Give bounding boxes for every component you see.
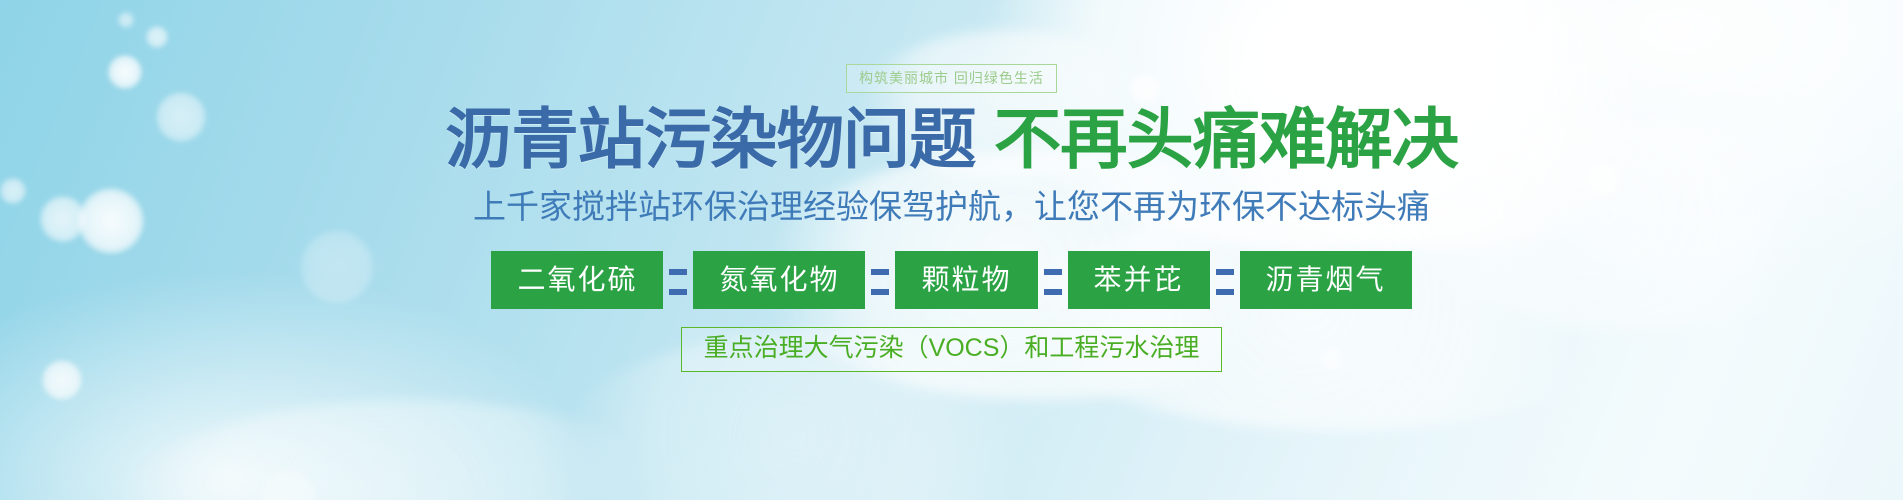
pollutant-tag-row: 二氧化硫 氮氧化物 颗粒物 苯并芘 沥青烟气	[491, 251, 1411, 309]
tag-item[interactable]: 氮氧化物	[693, 251, 865, 309]
tag-separator-icon	[875, 251, 885, 309]
hero-banner: 构筑美丽城市 回归绿色生活 沥青站污染物问题不再头痛难解决 上千家搅拌站环保治理…	[0, 0, 1903, 500]
tag-item[interactable]: 二氧化硫	[491, 251, 663, 309]
headline-part-accent: 不再头痛难解决	[994, 101, 1458, 178]
footnote-banner: 重点治理大气污染（VOCS）和工程污水治理	[681, 327, 1223, 372]
tag-separator-icon	[1048, 251, 1058, 309]
tag-item[interactable]: 沥青烟气	[1240, 251, 1412, 309]
page-title: 沥青站污染物问题不再头痛难解决	[445, 107, 1458, 173]
tag-separator-icon	[1220, 251, 1230, 309]
eyebrow-tagline: 构筑美丽城市 回归绿色生活	[846, 64, 1057, 93]
page-subtitle: 上千家搅拌站环保治理经验保驾护航，让您不再为环保不达标头痛	[473, 189, 1430, 225]
tag-item[interactable]: 颗粒物	[895, 251, 1037, 309]
tag-separator-icon	[673, 251, 683, 309]
tag-item[interactable]: 苯并芘	[1068, 251, 1210, 309]
banner-content: 构筑美丽城市 回归绿色生活 沥青站污染物问题不再头痛难解决 上千家搅拌站环保治理…	[0, 0, 1903, 500]
headline-part-primary: 沥青站污染物问题	[445, 101, 975, 178]
